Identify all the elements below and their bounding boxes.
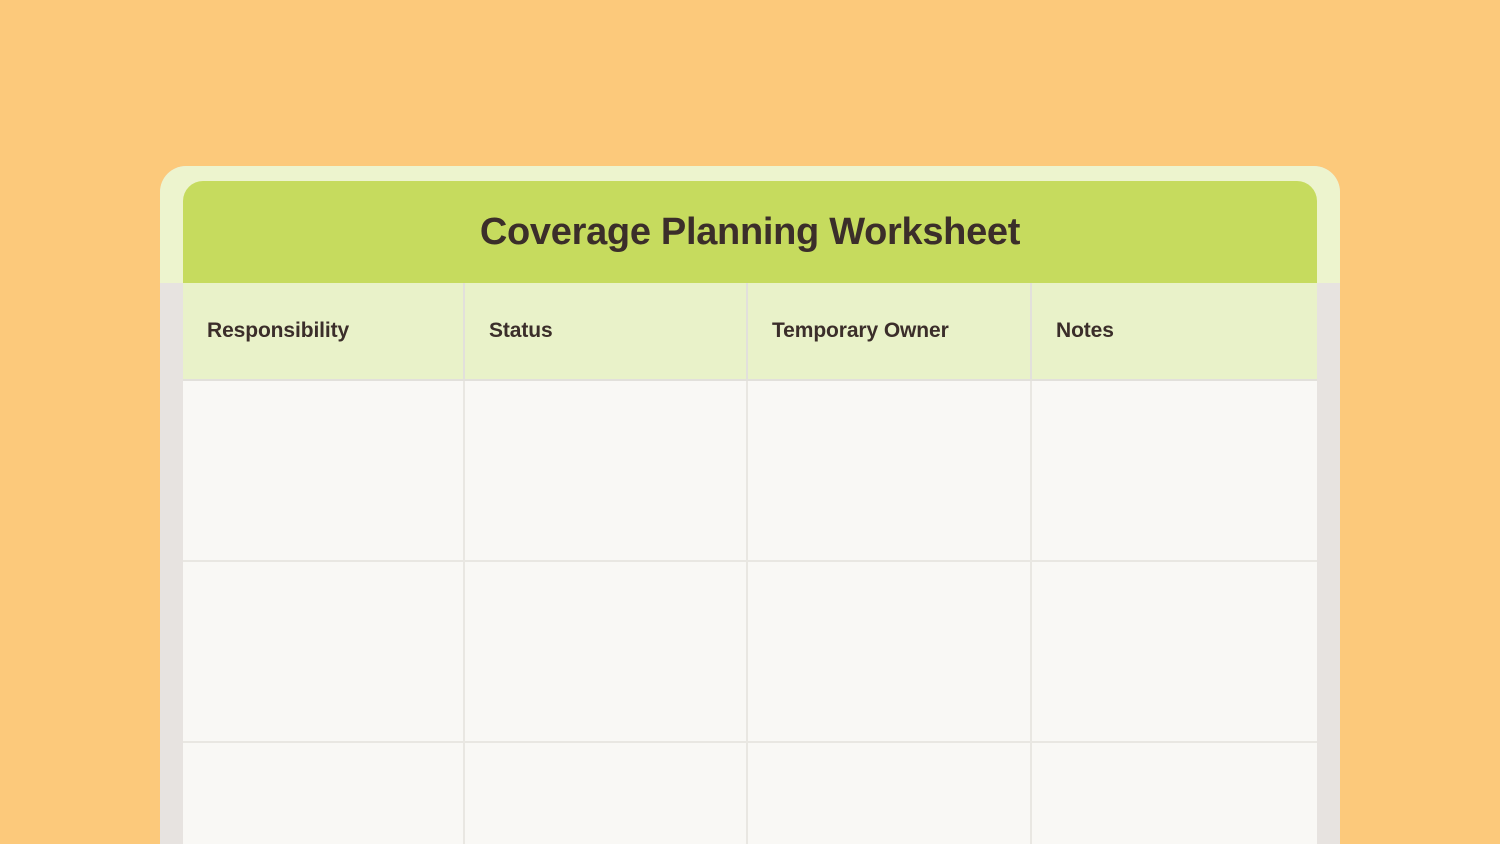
cell-status[interactable]: [465, 381, 748, 560]
table-row: [183, 743, 1317, 844]
column-header-status[interactable]: Status: [465, 283, 748, 379]
column-header-temporary-owner[interactable]: Temporary Owner: [748, 283, 1032, 379]
column-header-notes[interactable]: Notes: [1032, 283, 1317, 379]
worksheet-page: Coverage Planning Worksheet Responsibili…: [0, 0, 1500, 844]
cell-responsibility[interactable]: [183, 381, 465, 560]
cell-status[interactable]: [465, 562, 748, 741]
page-title: Coverage Planning Worksheet: [480, 213, 1020, 251]
cell-notes[interactable]: [1032, 381, 1317, 560]
table-row: [183, 381, 1317, 562]
worksheet-table: Responsibility Status Temporary Owner No…: [183, 283, 1317, 844]
column-header-responsibility[interactable]: Responsibility: [183, 283, 465, 379]
table-header-row: Responsibility Status Temporary Owner No…: [183, 283, 1317, 381]
cell-notes[interactable]: [1032, 743, 1317, 844]
worksheet-header: Coverage Planning Worksheet: [183, 181, 1317, 283]
column-header-label: Notes: [1056, 319, 1114, 343]
cell-temporary-owner[interactable]: [748, 743, 1032, 844]
table-row: [183, 562, 1317, 743]
cell-temporary-owner[interactable]: [748, 381, 1032, 560]
cell-responsibility[interactable]: [183, 743, 465, 844]
cell-status[interactable]: [465, 743, 748, 844]
cell-temporary-owner[interactable]: [748, 562, 1032, 741]
cell-notes[interactable]: [1032, 562, 1317, 741]
column-header-label: Temporary Owner: [772, 319, 949, 343]
column-header-label: Status: [489, 319, 553, 343]
column-header-label: Responsibility: [207, 319, 349, 343]
cell-responsibility[interactable]: [183, 562, 465, 741]
